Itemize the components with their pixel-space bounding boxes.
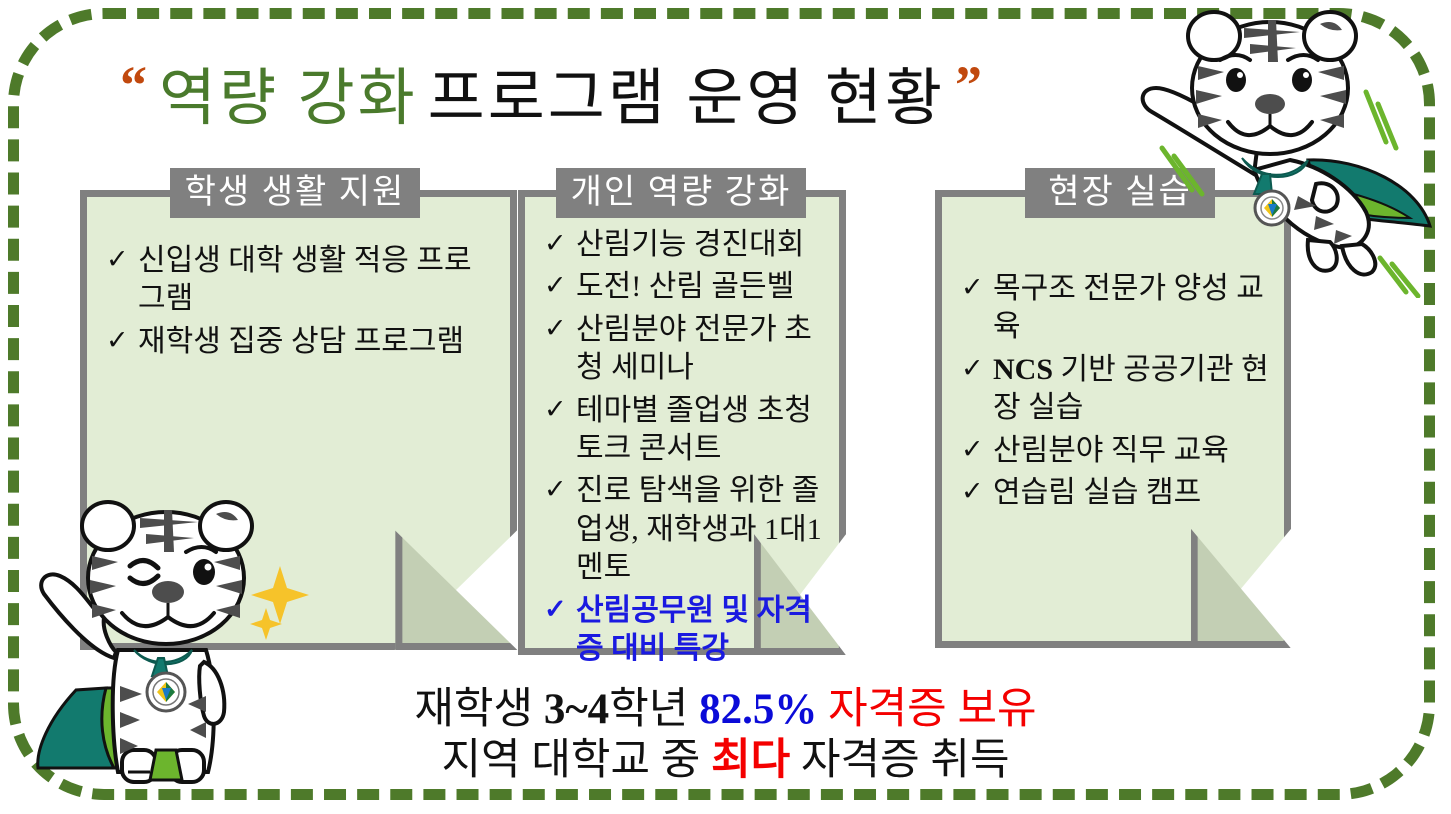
card-item-list-3: ✓ 목구조 전문가 양성 교육 ✓ NCS 기반 공공기관 현장 실습 ✓ 산림…: [961, 270, 1273, 516]
list-item-label: 산림분야 직무 교육: [993, 432, 1273, 470]
list-item-label: 산림기능 경진대회: [576, 226, 828, 264]
flying-tiger-mascot: [1130, 8, 1450, 298]
list-item-label: 도전! 산림 골든벨: [576, 268, 828, 306]
summary-text-segment: 82.5%: [699, 686, 817, 733]
summary-text-segment: 재학생: [414, 686, 543, 733]
check-icon: ✓: [544, 592, 576, 627]
list-item: ✓ 테마별 졸업생 초청 토크 콘서트: [544, 392, 828, 469]
summary-text-segment: 3~4: [544, 686, 609, 733]
check-icon: ✓: [961, 351, 993, 386]
check-icon: ✓: [544, 392, 576, 427]
check-icon: ✓: [106, 323, 138, 358]
list-item: ✓ 진로 탐색을 위한 졸업생, 재학생과 1대1 멘토: [544, 472, 828, 587]
list-item: ✓ 도전! 산림 골든벨: [544, 268, 828, 306]
title-highlight-text: 역량 강화: [159, 47, 418, 137]
list-item-label: 신입생 대학 생활 적응 프로그램: [138, 242, 499, 319]
close-quote-icon: ”: [955, 58, 980, 112]
page-title: “ 역량 강화 프로그램 운영 현황 ”: [120, 44, 1180, 140]
list-item-highlighted: ✓ 산림공무원 및 자격증 대비 특강: [544, 592, 828, 669]
list-item-label: 연습림 실습 캠프: [993, 474, 1273, 512]
summary-text-segment: 자격증 취득: [790, 737, 1009, 784]
list-item-label: 산림분야 전문가 초청 세미나: [576, 311, 828, 388]
card-individual-capacity: 개인 역량 강화 ✓ 산림기능 경진대회 ✓ 도전! 산림 골든벨 ✓ 산림분야…: [518, 190, 846, 655]
list-item-label: 재학생 집중 상담 프로그램: [138, 323, 499, 361]
check-icon: ✓: [544, 226, 576, 261]
check-icon: ✓: [544, 472, 576, 507]
card-item-list-2: ✓ 산림기능 경진대회 ✓ 도전! 산림 골든벨 ✓ 산림분야 전문가 초청 세…: [544, 226, 828, 672]
list-item: ✓ 연습림 실습 캠프: [961, 474, 1273, 512]
open-quote-icon: “: [120, 58, 145, 112]
list-item: ✓ 신입생 대학 생활 적응 프로그램: [106, 242, 499, 319]
check-icon: ✓: [544, 268, 576, 303]
summary-text-segment: 지역 대학교 중: [441, 737, 711, 784]
summary-text-segment: 학년: [609, 686, 699, 733]
check-icon: ✓: [961, 432, 993, 467]
list-item: ✓ 산림분야 직무 교육: [961, 432, 1273, 470]
check-icon: ✓: [544, 311, 576, 346]
title-main-text: 프로그램 운영 현황: [428, 47, 945, 137]
card-item-list-1: ✓ 신입생 대학 생활 적응 프로그램 ✓ 재학생 집중 상담 프로그램: [106, 242, 499, 365]
summary-text-segment: 자격증 보유: [817, 686, 1036, 733]
list-item: ✓ 재학생 집중 상담 프로그램: [106, 323, 499, 361]
emphasis-text: NCS: [993, 353, 1053, 386]
list-item: ✓ 산림기능 경진대회: [544, 226, 828, 264]
list-item-label: 테마별 졸업생 초청 토크 콘서트: [576, 392, 828, 469]
list-item-label: 산림공무원 및 자격증 대비 특강: [576, 592, 828, 669]
list-item-label: 진로 탐색을 위한 졸업생, 재학생과 1대1 멘토: [576, 472, 828, 587]
card-tab-individual-capacity: 개인 역량 강화: [556, 168, 806, 218]
card-tab-student-life-support: 학생 생활 지원: [170, 168, 420, 218]
list-item-label: NCS 기반 공공기관 현장 실습: [993, 351, 1273, 428]
standing-tiger-mascot: [18, 500, 318, 810]
check-icon: ✓: [961, 270, 993, 305]
list-item: ✓ 산림분야 전문가 초청 세미나: [544, 311, 828, 388]
check-icon: ✓: [961, 474, 993, 509]
list-item: ✓ NCS 기반 공공기관 현장 실습: [961, 351, 1273, 428]
check-icon: ✓: [106, 242, 138, 277]
summary-text-segment: 최다: [711, 737, 790, 784]
